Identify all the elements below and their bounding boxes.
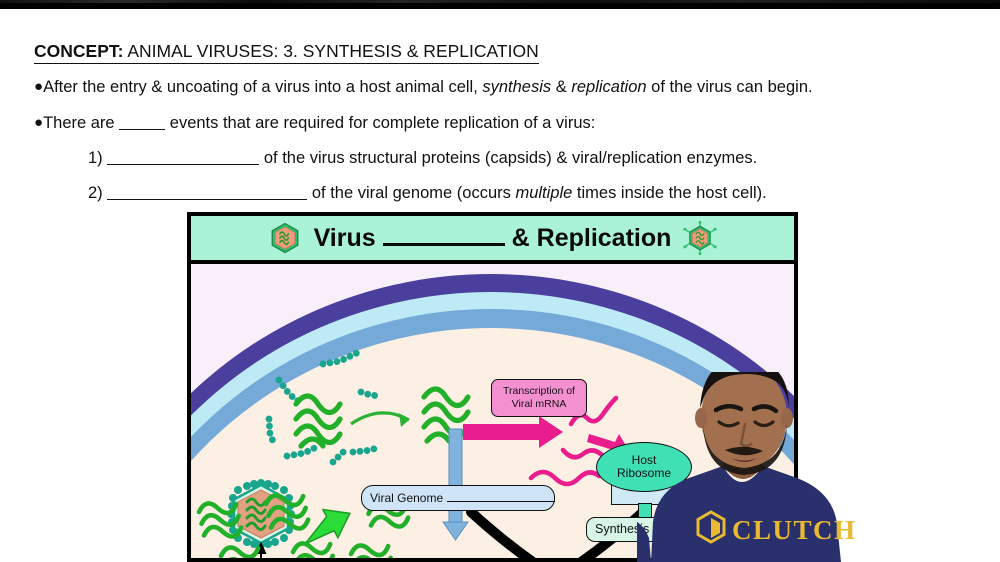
blank-replication [107, 185, 307, 200]
diagram-banner: Virus & Replication [191, 216, 794, 264]
banner-title-post: & Replication [512, 224, 672, 253]
bullet-point-1: ●After the entry & uncoating of a virus … [34, 77, 813, 97]
blank-count [119, 115, 165, 130]
spiked-virus-hexagon-icon [683, 221, 717, 255]
bullet-glyph-1: ● [34, 78, 43, 95]
bullet1-mid: & [551, 78, 571, 96]
bullet-glyph-2: ● [34, 114, 43, 131]
top-bar-sheen [0, 0, 1000, 3]
bullet2-pre: There are [43, 114, 119, 132]
presenter-video-overlay: CLUTCH [637, 372, 1000, 562]
blank-synthesis [107, 150, 259, 165]
bullet1-italic-replication: replication [571, 78, 646, 96]
sub-item-1-text: of the virus structural proteins (capsid… [264, 149, 757, 167]
shirt-brand-text: CLUTCH [732, 515, 857, 545]
banner-title: Virus & Replication [314, 224, 672, 253]
concept-title: ANIMAL VIRUSES: 3. SYNTHESIS & REPLICATI… [123, 41, 538, 61]
screenshot-root: CONCEPT: ANIMAL VIRUSES: 3. SYNTHESIS & … [0, 0, 1000, 562]
sub-item-2: 2) of the viral genome (occurs multiple … [88, 183, 767, 203]
sub-item-1-number: 1) [88, 149, 103, 167]
sub-item-2-number: 2) [88, 184, 103, 202]
concept-heading: CONCEPT: ANIMAL VIRUSES: 3. SYNTHESIS & … [34, 41, 539, 64]
sub-item-2-italic: multiple [515, 184, 572, 202]
label-transcription-viral-mrna: Transcription of Viral mRNA [491, 379, 587, 417]
top-black-bar [0, 0, 1000, 9]
viral-genome-blank [447, 491, 555, 502]
sub-item-2-pre: of the viral genome (occurs [312, 184, 516, 202]
concept-keyword: CONCEPT: [34, 41, 123, 61]
bullet2-post: events that are required for complete re… [165, 114, 595, 132]
viral-genome-text: Viral Genome [370, 491, 443, 505]
transcription-line-2: Viral mRNA [496, 398, 582, 411]
bullet1-post: of the virus can begin. [647, 78, 813, 96]
bullet1-pre: After the entry & uncoating of a virus i… [43, 78, 482, 96]
label-viral-genome: Viral Genome [361, 485, 555, 511]
sub-item-1: 1) of the virus structural proteins (cap… [88, 148, 757, 168]
bullet-point-2: ●There are events that are required for … [34, 113, 595, 133]
banner-title-pre: Virus [314, 224, 376, 253]
virus-hexagon-icon [268, 221, 302, 255]
banner-blank [383, 229, 505, 246]
sub-item-2-post: times inside the host cell). [572, 184, 766, 202]
transcription-line-1: Transcription of [496, 385, 582, 398]
bullet1-italic-synthesis: synthesis [482, 78, 551, 96]
presenter-shirt [651, 466, 841, 562]
